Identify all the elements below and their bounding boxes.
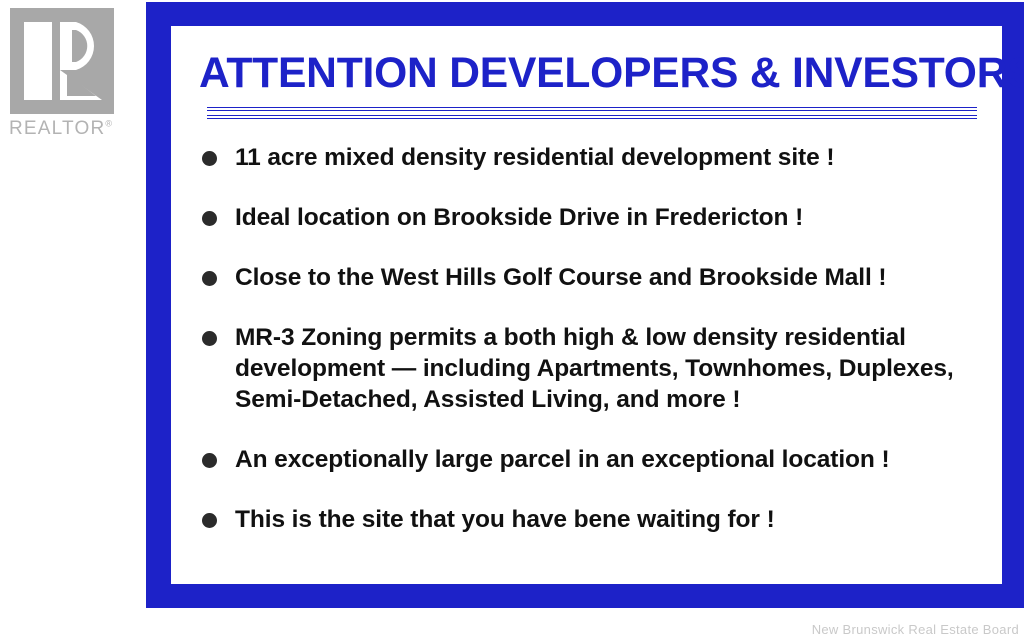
list-item: Ideal location on Brookside Drive in Fre… — [195, 202, 988, 233]
divider-line-bottom — [207, 115, 977, 119]
registered-trademark-icon: ® — [105, 119, 112, 129]
list-item: Close to the West Hills Golf Course and … — [195, 262, 988, 293]
list-item: An exceptionally large parcel in an exce… — [195, 444, 988, 475]
bullet-dot-icon — [202, 513, 217, 528]
realtor-logo: REALTOR® — [9, 7, 139, 142]
bullet-dot-icon — [202, 151, 217, 166]
divider-line-top — [207, 107, 977, 111]
list-item-label: This is the site that you have bene wait… — [235, 504, 988, 535]
flyer-white-panel: ATTENTION DEVELOPERS & INVESTORS 11 acre… — [171, 26, 1002, 584]
realtor-wordmark: REALTOR® — [9, 118, 137, 140]
list-item: 11 acre mixed density residential develo… — [195, 142, 988, 173]
double-rule-divider — [207, 107, 977, 120]
bullet-dot-icon — [202, 331, 217, 346]
feature-bullet-list: 11 acre mixed density residential develo… — [195, 142, 988, 535]
list-item: This is the site that you have bene wait… — [195, 504, 988, 535]
list-item-label: Ideal location on Brookside Drive in Fre… — [235, 202, 988, 233]
realtor-r-mark-icon — [10, 8, 114, 114]
realtor-wordmark-text: REALTOR — [9, 118, 105, 139]
list-item: MR-3 Zoning permits a both high & low de… — [195, 322, 988, 415]
bullet-dot-icon — [202, 211, 217, 226]
list-item-label: 11 acre mixed density residential develo… — [235, 142, 988, 173]
image-credit: New Brunswick Real Estate Board — [812, 622, 1019, 637]
flyer-canvas: REALTOR® ATTENTION DEVELOPERS & INVESTOR… — [0, 0, 1024, 640]
list-item-label: Close to the West Hills Golf Course and … — [235, 262, 988, 293]
list-item-label: An exceptionally large parcel in an exce… — [235, 444, 988, 475]
list-item-label: MR-3 Zoning permits a both high & low de… — [235, 322, 988, 415]
bullet-dot-icon — [202, 453, 217, 468]
bullet-dot-icon — [202, 271, 217, 286]
flyer-blue-frame: ATTENTION DEVELOPERS & INVESTORS 11 acre… — [146, 2, 1024, 608]
page-title: ATTENTION DEVELOPERS & INVESTORS — [199, 52, 984, 96]
